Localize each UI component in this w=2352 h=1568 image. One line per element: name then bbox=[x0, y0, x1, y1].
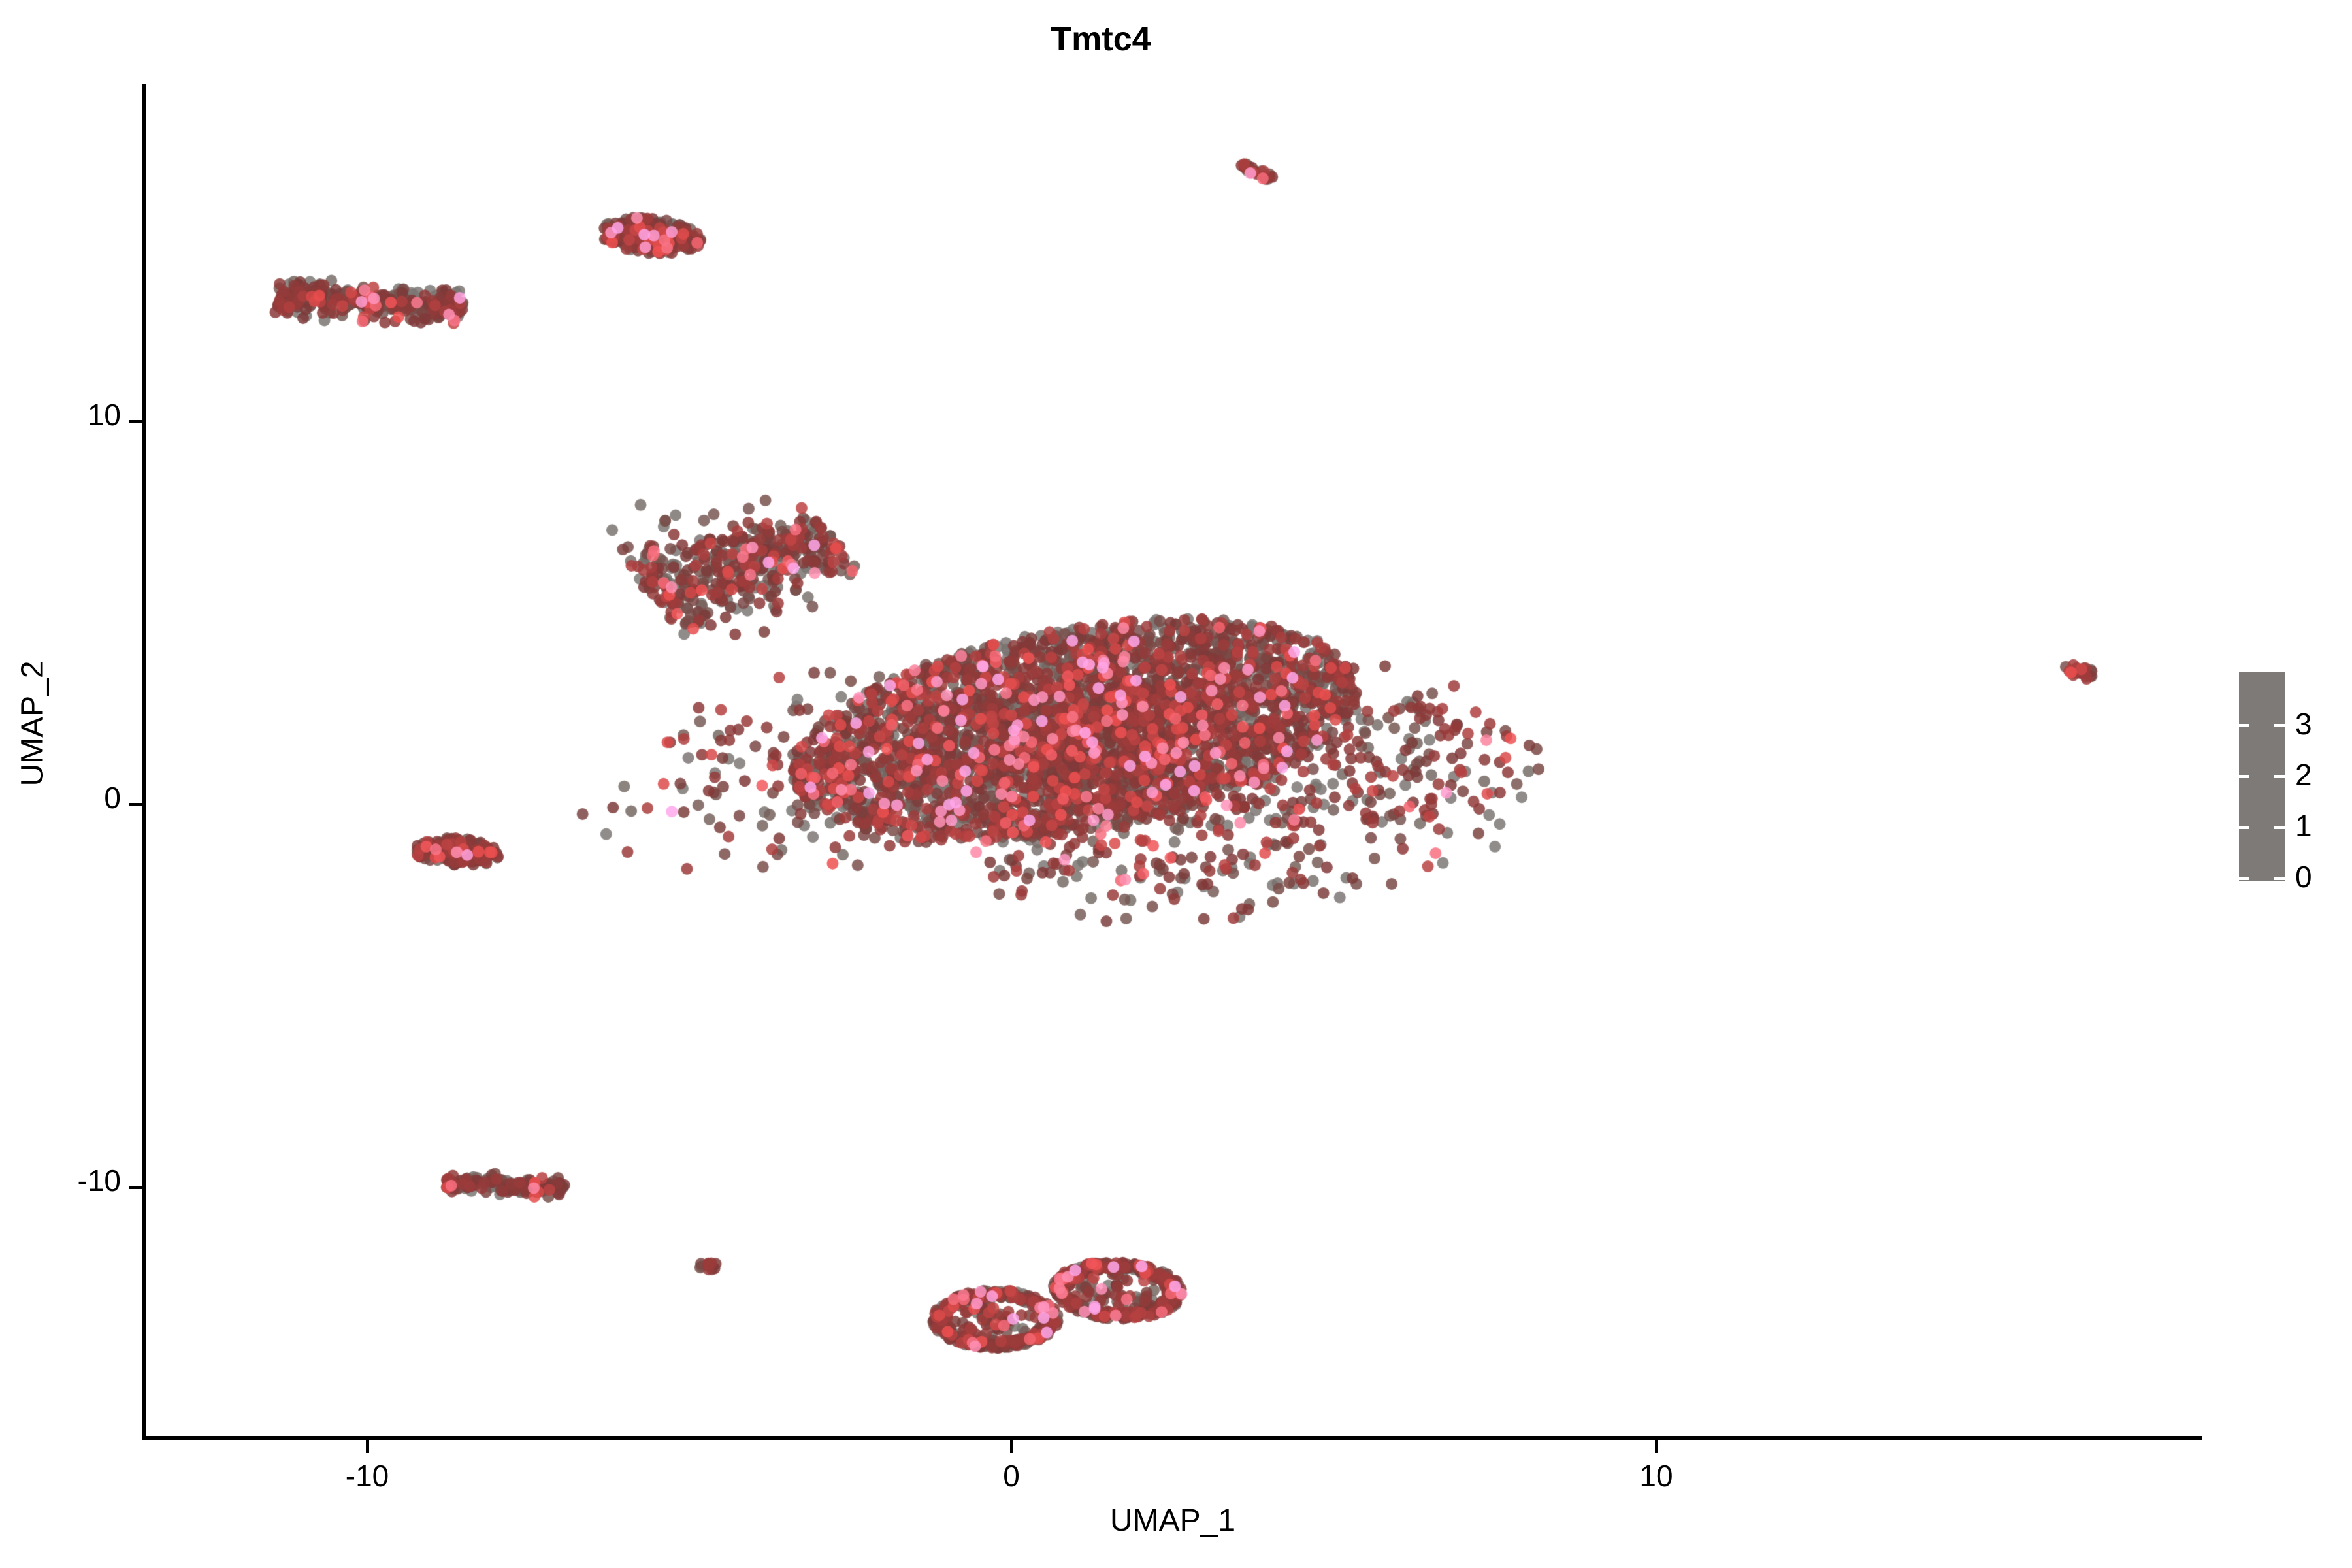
legend-label-1: 1 bbox=[2295, 811, 2312, 841]
x-axis-tick--10 bbox=[366, 1440, 369, 1453]
legend-tick-3-right bbox=[2274, 724, 2285, 727]
legend-tick-0-left bbox=[2239, 877, 2249, 880]
legend-tick-1-right bbox=[2274, 826, 2285, 829]
y-axis-tick-label-0: 0 bbox=[104, 780, 121, 815]
legend-label-3: 3 bbox=[2295, 709, 2312, 739]
y-axis-line bbox=[142, 84, 146, 1440]
y-axis-tick-label-10: 10 bbox=[88, 397, 121, 433]
x-axis-tick-label--10: -10 bbox=[346, 1458, 389, 1494]
y-axis-tick--10 bbox=[129, 1186, 142, 1189]
legend-label-0: 0 bbox=[2295, 862, 2312, 892]
y-axis-tick-label--10: -10 bbox=[78, 1163, 121, 1198]
x-axis-tick-0 bbox=[1010, 1440, 1013, 1453]
x-axis-line bbox=[142, 1436, 2202, 1440]
x-axis-title: UMAP_1 bbox=[144, 1503, 2202, 1539]
x-axis-tick-label-0: 0 bbox=[1003, 1458, 1020, 1494]
y-axis-tick-10 bbox=[129, 420, 142, 423]
plot-panel bbox=[144, 84, 2202, 1438]
x-axis-tick-10 bbox=[1655, 1440, 1658, 1453]
color-legend: 3 2 1 0 bbox=[2239, 672, 2344, 882]
legend-tick-3-left bbox=[2239, 724, 2249, 727]
legend-tick-2-right bbox=[2274, 775, 2285, 778]
legend-tick-2-left bbox=[2239, 775, 2249, 778]
y-axis-title: UMAP_2 bbox=[15, 528, 51, 920]
page-title: Tmtc4 bbox=[0, 20, 2202, 59]
x-axis-tick-label-10: 10 bbox=[1639, 1458, 1673, 1494]
legend-tick-1-left bbox=[2239, 826, 2249, 829]
umap-feature-plot: Tmtc4 10 0 -10 -10 0 10 UMAP_1 UMAP_2 3 … bbox=[0, 0, 2352, 1568]
legend-tick-0-right bbox=[2274, 877, 2285, 880]
scatter-canvas bbox=[144, 84, 2202, 1438]
legend-label-2: 2 bbox=[2295, 760, 2312, 790]
y-axis-tick-0 bbox=[129, 803, 142, 806]
